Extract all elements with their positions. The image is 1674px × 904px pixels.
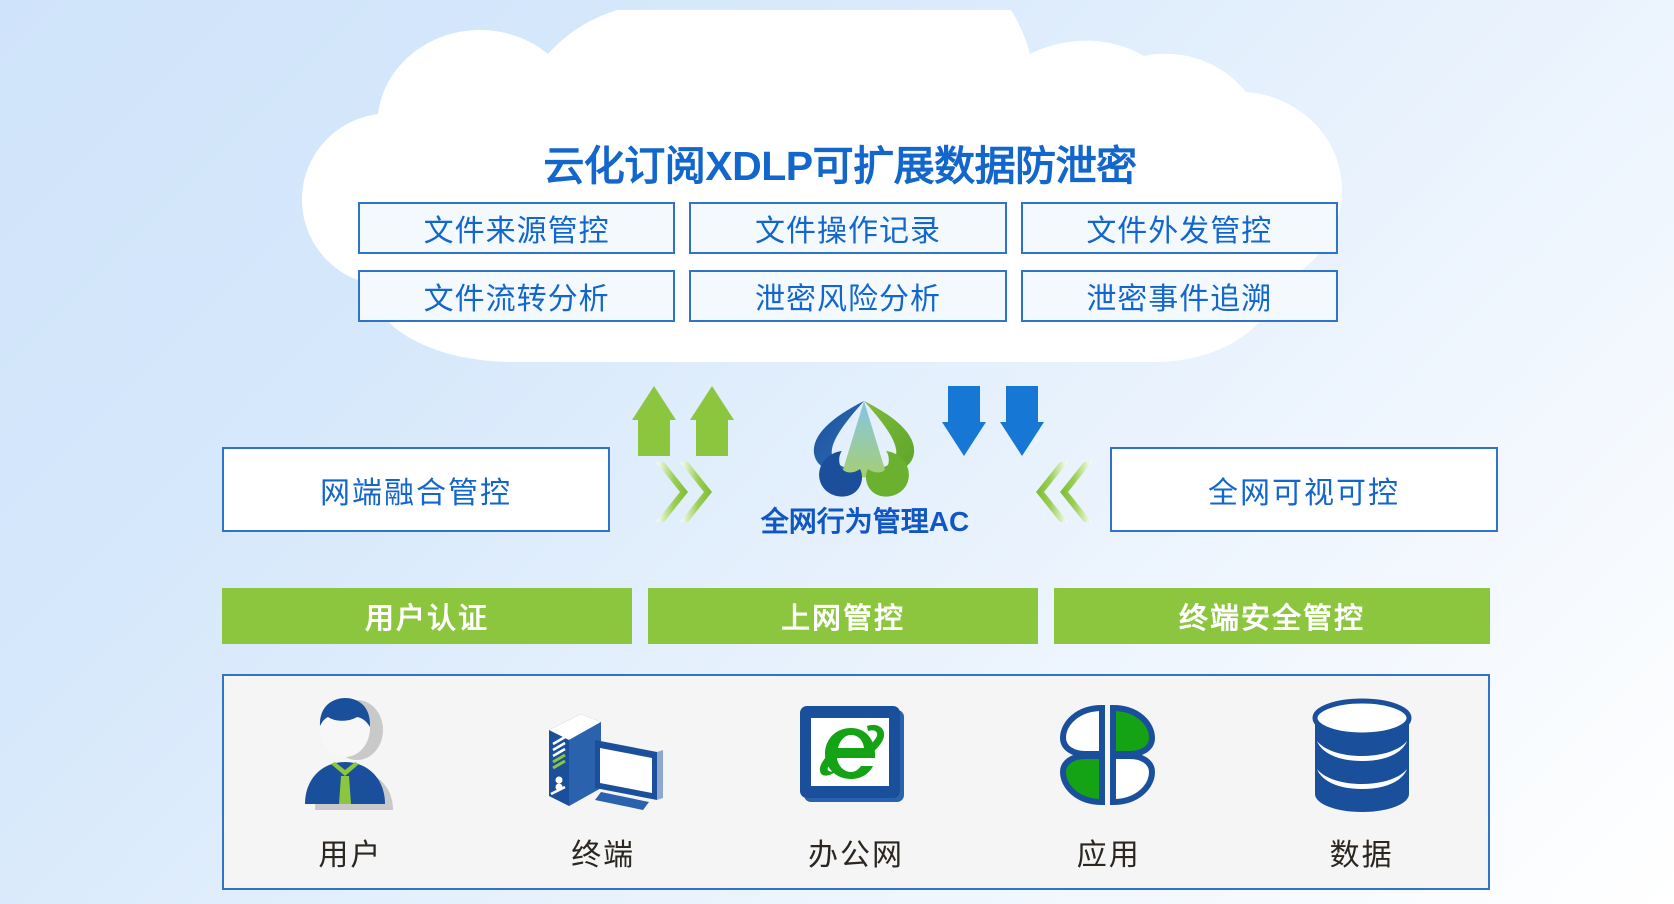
- cloud-box-row-2: 文件流转分析 泄密风险分析 泄密事件追溯: [358, 270, 1338, 322]
- asset-cell-terminal[interactable]: 终端: [477, 676, 730, 888]
- asset-cell-office-network[interactable]: 办公网: [730, 676, 983, 888]
- ac-device-label: 全网行为管理AC: [730, 500, 1000, 540]
- banner-endpoint-security-control[interactable]: 终端安全管控: [1054, 588, 1490, 644]
- cloud-title: 云化订阅XDLP可扩展数据防泄密: [280, 132, 1400, 192]
- cloud-box-file-outbound-control[interactable]: 文件外发管控: [1021, 202, 1338, 254]
- box-network-endpoint-convergence[interactable]: 网端融合管控: [222, 447, 610, 532]
- cloud-box-leak-risk-analysis[interactable]: 泄密风险分析: [689, 270, 1006, 322]
- chevron-left-green-icon: [1030, 460, 1096, 524]
- banner-internet-access-control[interactable]: 上网管控: [648, 588, 1038, 644]
- asset-label-office-network: 办公网: [808, 830, 904, 874]
- asset-label-data: 数据: [1330, 830, 1394, 874]
- asset-panel: 用户: [222, 674, 1490, 890]
- capability-banner-row: 用户认证 上网管控 终端安全管控: [222, 588, 1490, 644]
- middle-band: 网端融合管控 全网可视可控: [0, 400, 1674, 560]
- cloud-box-row-1: 文件来源管控 文件操作记录 文件外发管控: [358, 202, 1338, 254]
- arrow-up-green-icon: [628, 386, 738, 456]
- user-icon: [295, 694, 405, 816]
- browser-ie-icon: [794, 694, 918, 816]
- asset-cell-user[interactable]: 用户: [224, 676, 477, 888]
- box-network-wide-visibility[interactable]: 全网可视可控: [1110, 447, 1498, 532]
- desktop-computer-icon: [539, 694, 667, 816]
- cloud-box-file-source-control[interactable]: 文件来源管控: [358, 202, 675, 254]
- cloud-region: 云化订阅XDLP可扩展数据防泄密 文件来源管控 文件操作记录 文件外发管控 文件…: [280, 10, 1400, 380]
- cloud-box-file-operation-log[interactable]: 文件操作记录: [689, 202, 1006, 254]
- asset-label-application: 应用: [1077, 830, 1141, 874]
- database-cylinder-icon: [1307, 694, 1417, 816]
- arrow-down-blue-icon: [938, 386, 1048, 456]
- sangfor-logo-icon: [800, 395, 928, 505]
- asset-cell-data[interactable]: 数据: [1235, 676, 1488, 888]
- cloud-box-grid: 文件来源管控 文件操作记录 文件外发管控 文件流转分析 泄密风险分析 泄密事件追…: [358, 202, 1338, 338]
- diagram-canvas: 云化订阅XDLP可扩展数据防泄密 文件来源管控 文件操作记录 文件外发管控 文件…: [0, 0, 1674, 904]
- application-petals-icon: [1047, 694, 1171, 816]
- cloud-box-file-flow-analysis[interactable]: 文件流转分析: [358, 270, 675, 322]
- asset-label-terminal: 终端: [571, 830, 635, 874]
- cloud-box-leak-event-tracing[interactable]: 泄密事件追溯: [1021, 270, 1338, 322]
- asset-label-user: 用户: [318, 830, 382, 874]
- asset-cell-application[interactable]: 应用: [982, 676, 1235, 888]
- banner-user-authentication[interactable]: 用户认证: [222, 588, 632, 644]
- chevron-right-green-icon: [652, 460, 718, 524]
